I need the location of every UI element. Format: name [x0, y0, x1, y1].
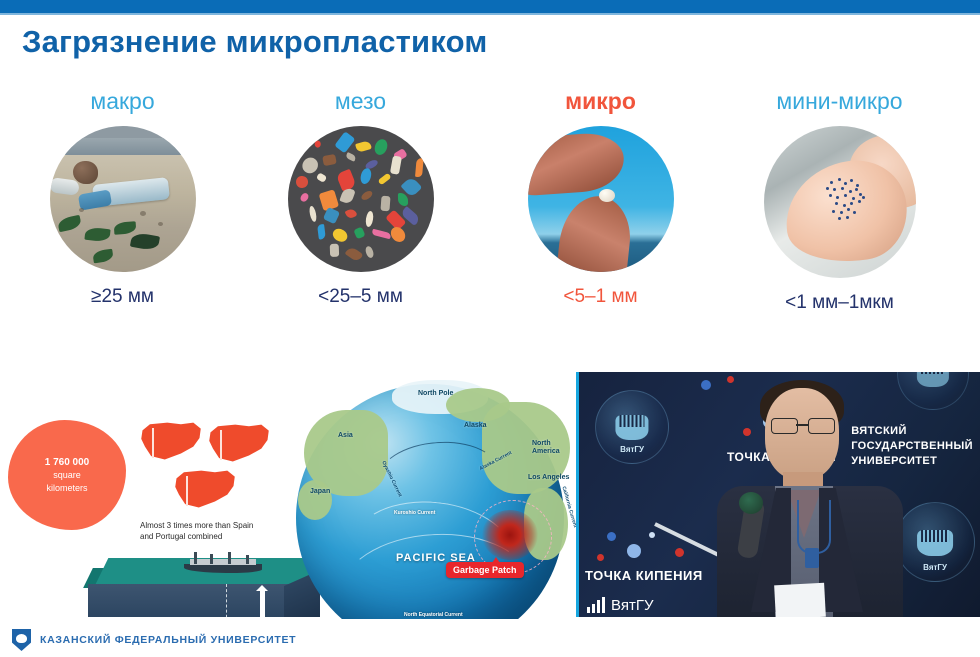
plastic-fragment [296, 175, 309, 188]
university-line1: ВЯТСКИЙ [851, 424, 973, 439]
plastic-fragment [380, 196, 390, 211]
microphone-head-icon [739, 492, 763, 514]
plastic-fragment [365, 210, 375, 227]
sand-speck [79, 208, 84, 212]
plastic-fragment [388, 224, 408, 245]
university-line3: УНИВЕРСИТЕТ [851, 454, 973, 469]
vyatgu-logo-caption: ВятГУ [596, 445, 668, 454]
leaf-shape [130, 232, 160, 251]
category-size: <5–1 мм [478, 286, 723, 308]
microbead [840, 211, 843, 214]
plastic-fragment [299, 192, 310, 203]
tochka-kipeniya-label-bottom: ТОЧКА КИПЕНИЯ [585, 568, 703, 583]
plastic-fragment [344, 245, 363, 263]
category-image-fingertip-microbeads [764, 126, 916, 278]
iberia-map-group [140, 420, 270, 510]
category-size: <25–5 мм [238, 286, 483, 308]
microbead [832, 210, 835, 213]
landmass-japan [298, 480, 332, 520]
category-label: микро [478, 86, 723, 118]
category-image-fingers-pellet [528, 126, 674, 272]
plastic-fragment [359, 167, 373, 185]
plastic-fragment [317, 224, 326, 239]
sand-speck [158, 222, 163, 226]
plastic-fragment [315, 172, 326, 183]
microbead [849, 190, 852, 193]
iberia-map-icon [140, 420, 202, 463]
footer: КАЗАНСКИЙ ФЕДЕРАЛЬНЫЙ УНИВЕРСИТЕТ [12, 629, 296, 651]
glasses-lens [771, 418, 798, 434]
area-unit-line2: kilometers [8, 482, 126, 495]
plastic-fragment [415, 158, 424, 178]
garbage-patch-hotspot [482, 510, 538, 560]
sand-speck [140, 211, 146, 216]
plastic-fragment [353, 227, 365, 240]
plastic-pellet [599, 189, 615, 202]
microbead [843, 204, 846, 207]
plastic-fragment [390, 156, 402, 175]
plastic-fragment [323, 207, 340, 224]
category-image-plastic-fragments [288, 126, 434, 272]
category-row: макро ≥25 мм [0, 86, 980, 336]
portugal-border-line [220, 430, 222, 460]
vyatgu-logo-caption: ВятГУ [896, 563, 974, 572]
plastic-fragment [315, 140, 321, 147]
plastic-fragment [334, 132, 355, 154]
slide-canvas: Загрязнение микропластиком макро [0, 0, 980, 657]
depth-arrow-icon [260, 590, 265, 617]
globe-label-los-angeles: Los Angeles [528, 474, 569, 481]
plastic-fragment [309, 205, 318, 222]
ship-mast [246, 555, 249, 564]
page-title: Загрязнение микропластиком [22, 24, 487, 60]
plastic-fragment [359, 189, 373, 201]
plastic-fragment [330, 243, 339, 256]
signal-bars-icon [587, 597, 605, 613]
footer-organization: КАЗАНСКИЙ ФЕДЕРАЛЬНЫЙ УНИВЕРСИТЕТ [40, 634, 296, 646]
globe-label-north-pole: North Pole [418, 390, 453, 397]
category-column-mezo: мезо <25–5 мм [238, 86, 483, 308]
top-accent-underline [0, 13, 980, 15]
vyatgu-logo-icon: ВятГУ [895, 502, 975, 582]
leaf-shape [93, 249, 115, 263]
globe-label-north-america: North America [532, 440, 566, 456]
portugal-border-line [152, 428, 154, 458]
iberia-map-icon [208, 422, 270, 465]
ship-mast [228, 552, 231, 564]
glasses-bridge [796, 424, 808, 426]
presenter-glasses [771, 418, 833, 432]
video-watermark: ВятГУ [587, 597, 653, 613]
watermark-text: ВятГУ [611, 598, 653, 613]
pacific-globe-illustration: North Pole Asia Alaska North America Jap… [278, 374, 578, 619]
plastic-fragment [365, 245, 376, 258]
category-label: мезо [238, 86, 483, 118]
university-line2: ГОСУДАРСТВЕННЫЙ [851, 439, 973, 454]
presenter-head [765, 388, 839, 480]
globe-sphere: North Pole Asia Alaska North America Jap… [296, 384, 564, 619]
globe-label-alaska: Alaska [464, 422, 487, 429]
plastic-fragment [378, 172, 392, 185]
microbead [846, 216, 849, 219]
plastic-fragment [372, 229, 392, 239]
glasses-lens [808, 418, 835, 434]
vyatgu-emblem [917, 372, 949, 387]
plastic-fragment [344, 207, 357, 220]
top-accent-bar [0, 0, 980, 13]
area-number: 1 760 000 [8, 456, 126, 469]
category-size: ≥25 мм [0, 286, 245, 308]
plastic-fragment [355, 140, 371, 152]
leaf-shape [84, 227, 110, 243]
plastic-fragment [373, 138, 390, 157]
microbead [856, 184, 859, 187]
leaf-shape [113, 222, 136, 235]
kfu-shield-icon [12, 629, 31, 651]
category-label: мини-микро [717, 86, 962, 118]
university-name: ВЯТСКИЙ ГОСУДАРСТВЕННЫЙ УНИВЕРСИТЕТ [851, 424, 973, 469]
vyatgu-emblem [917, 530, 953, 557]
plastic-fragment [398, 193, 408, 206]
garbage-patch-badge: Garbage Patch [446, 562, 524, 578]
presenter-notes [774, 583, 826, 617]
finger-shape [528, 131, 626, 197]
vyatgu-emblem [615, 415, 648, 439]
microbead [838, 178, 841, 181]
category-column-mini-mikro: мини-микро <1 мм–1мкм [717, 86, 962, 314]
iberia-map-icon [174, 468, 236, 511]
plastic-fragment [345, 152, 357, 162]
portugal-border-line [186, 476, 188, 506]
category-column-mikro: микро <5–1 мм [478, 86, 723, 308]
globe-label-japan: Japan [310, 488, 330, 495]
category-label: макро [0, 86, 245, 118]
leaf-shape [57, 214, 83, 232]
ship-mast [210, 554, 213, 564]
category-size: <1 мм–1мкм [717, 292, 962, 314]
depth-dashed-line [226, 584, 227, 617]
area-blob-text: 1 760 000 square kilometers [8, 456, 126, 495]
presenter-lanyard [797, 500, 831, 554]
finger-shape [555, 193, 634, 272]
ship-hull [184, 564, 262, 573]
area-unit-line1: square [8, 469, 126, 482]
category-image-beach-plastic [50, 126, 196, 272]
category-column-makro: макро ≥25 мм [0, 86, 245, 308]
microbead [826, 187, 829, 190]
landmass-alaska [446, 388, 510, 422]
ship-illustration [184, 552, 262, 572]
rock-shape [73, 161, 98, 184]
video-player-panel[interactable]: ВятГУ ВятГУ ТОЧКА КИПЕНИЯ ТОЧКА КИПЕНИЯ … [576, 372, 980, 617]
ship-mast [194, 552, 197, 564]
plastic-fragment [322, 154, 337, 167]
globe-label-asia: Asia [338, 432, 353, 439]
plastic-fragment [331, 227, 349, 244]
vyatgu-logo-icon: ВятГУ [595, 390, 669, 464]
bottle-shape [78, 189, 112, 210]
microbead [835, 202, 838, 205]
presenter-badge [805, 548, 819, 568]
microbead [841, 187, 844, 190]
